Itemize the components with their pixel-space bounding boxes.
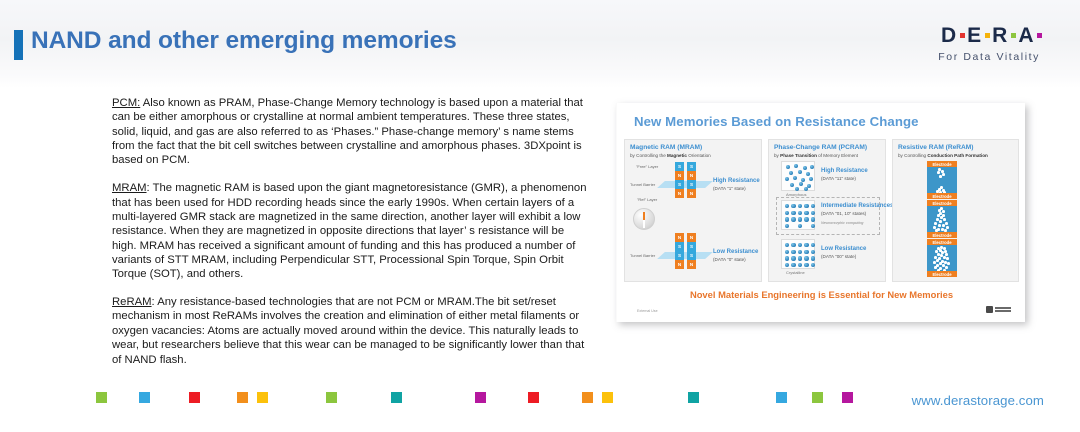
pcram-atom (791, 250, 795, 254)
mram-cell-n: N (687, 233, 696, 242)
mram-cell-n: N (687, 189, 696, 198)
pcram-atom (799, 182, 803, 186)
mram-cell-s: S (675, 242, 684, 251)
pcram-atom (811, 211, 815, 215)
pcram-atom (804, 211, 808, 215)
reram-electrode-bottom: Electrode (927, 232, 957, 238)
reram-filament-dot (942, 224, 945, 227)
pcram-atom (811, 263, 815, 267)
reram-filament-dot (936, 259, 939, 262)
pcram-atom (785, 243, 789, 247)
panel-subtitle-pcram: by Phase Transition of Memory Element (774, 152, 880, 159)
reram-filament-dot (937, 269, 940, 271)
pcram-sub-bold: Phase Transition (780, 153, 817, 158)
pcram-atom (798, 204, 802, 208)
footer-color-square (96, 392, 107, 403)
mram-sub-prefix: by Controlling the (630, 153, 667, 158)
pcram-atom (798, 250, 802, 254)
embedded-diagram-image[interactable]: New Memories Based on Resistance Change … (616, 103, 1025, 322)
reram-filament-dot (934, 266, 937, 269)
mram-cell-s: S (687, 180, 696, 189)
pcram-state-low-label: Low Resistance (821, 246, 866, 252)
reram-body (927, 206, 957, 232)
logo-wordmark: D E R A (938, 24, 1042, 46)
logo-dot-1 (960, 33, 965, 38)
diagram-panels: Magnetic RAM (MRAM) by Controlling the M… (624, 139, 1019, 282)
mram-cell-s: S (687, 251, 696, 260)
reram-filament-dot (945, 222, 948, 225)
reram-filament-dot (946, 257, 949, 260)
pcram-atom (791, 217, 795, 221)
mram-sub-bold: Magnetic (667, 153, 687, 158)
mram-state-low-sub: (DATA "0" state) (713, 257, 746, 262)
pcram-atom (798, 224, 802, 228)
pcram-atom (798, 243, 802, 247)
reram-body (927, 245, 957, 271)
mram-cell-s: S (687, 242, 696, 251)
reram-body (927, 167, 957, 193)
reram-cell-high: Electrode Electrode (927, 161, 957, 199)
footer-color-square (528, 392, 539, 403)
pcram-atom (798, 217, 802, 221)
pcram-atom (804, 256, 808, 260)
reram-cell-low: Electrode Electrode (927, 239, 957, 277)
footer-color-square (582, 392, 593, 403)
pcram-state-high-sub: (DATA "11" state) (821, 176, 856, 181)
diagram-footnote: External Use (637, 309, 658, 313)
pcram-atom (798, 263, 802, 267)
pcram-atom (811, 224, 815, 228)
corp-logo-bars (995, 307, 1011, 311)
pcram-atom (785, 204, 789, 208)
reram-filament-dot (935, 229, 938, 232)
mram-label-ref-layer: "Ref" Layer (637, 197, 657, 202)
reram-electrode-bottom: Electrode (927, 193, 957, 199)
pcram-atom (785, 211, 789, 215)
compass-icon (633, 208, 655, 230)
mram-cell-s: S (675, 162, 684, 171)
pcram-atom (785, 177, 789, 181)
pcram-sub-suffix: of Memory Element (817, 153, 858, 158)
pcram-atom (798, 211, 802, 215)
pcram-state-mid-sub: (DATA "01, 10" states) (821, 211, 866, 216)
brand-logo: D E R A For Data Vitality (938, 24, 1042, 63)
corp-logo-mark (986, 306, 993, 313)
reram-filament-dot (939, 175, 942, 178)
mram-cell-n: N (675, 189, 684, 198)
mram-state-high-sub: (DATA "1" state) (713, 186, 746, 191)
pcram-box-intermediate (781, 200, 815, 230)
term-mram: MRAM (112, 182, 147, 194)
footer-color-square (688, 392, 699, 403)
mram-label-tunnel-barrier: Tunnel Barrier (630, 182, 655, 187)
mram-pillar: N S S N (687, 233, 696, 269)
diagram-panel-reram: Resistive RAM (ReRAM) by Controlling Con… (892, 139, 1019, 282)
panel-title-mram: Magnetic RAM (MRAM) (630, 144, 756, 152)
reram-filament-dot (947, 262, 950, 265)
diagram-panel-mram: Magnetic RAM (MRAM) by Controlling the M… (624, 139, 762, 282)
reram-filament-dot (937, 171, 940, 174)
mram-cell-n: N (675, 171, 684, 180)
footer-color-square (475, 392, 486, 403)
reram-filament-dot (942, 210, 945, 213)
footer-color-square (139, 392, 150, 403)
term-pcm: PCM: (112, 97, 140, 109)
reram-filament-dot (942, 173, 945, 176)
header-accent-bar (14, 30, 23, 60)
mram-state-low-label: Low Resistance (713, 249, 758, 255)
pcram-atom (811, 204, 815, 208)
footer-color-square (391, 392, 402, 403)
pcram-atom (804, 250, 808, 254)
pcram-atom (804, 263, 808, 267)
panel-subtitle-mram: by Controlling the Magnetic Orientation (630, 152, 756, 159)
mram-cell-s: S (675, 251, 684, 260)
pcram-caption-crystalline: Crystalline (786, 270, 805, 275)
pcram-atom (791, 204, 795, 208)
pcram-state-high-label: High Resistance (821, 168, 868, 174)
mram-cell-n: N (687, 260, 696, 269)
logo-dot-4 (1037, 33, 1042, 38)
mram-cell-s: S (675, 180, 684, 189)
mram-sub-suffix: Orientation (687, 153, 711, 158)
diagram-title: New Memories Based on Resistance Change (634, 114, 919, 129)
paragraph-reram-text: : Any resistance-based technologies that… (112, 296, 584, 365)
reram-filament-dot (938, 224, 941, 227)
reram-filament-dot (943, 269, 946, 271)
mram-cell-n: N (687, 171, 696, 180)
pcram-atom (795, 187, 799, 191)
pcram-state-low-sub: (DATA "00" state) (821, 254, 856, 259)
mram-stack-low: N S S N N S S N (675, 233, 696, 269)
diagram-panel-pcram: Phase-Change RAM (PCRAM) by Phase Transi… (768, 139, 886, 282)
paragraph-reram: ReRAM: Any resistance-based technologies… (112, 295, 590, 367)
pcram-atom (786, 165, 790, 169)
paragraph-pcm-text: Also known as PRAM, Phase-Change Memory … (112, 97, 583, 166)
pcram-atom (804, 217, 808, 221)
panel-title-pcram: Phase-Change RAM (PCRAM) (774, 144, 880, 152)
mram-pillar: S N S N (675, 162, 684, 198)
mram-state-high-label: High Resistance (713, 178, 760, 184)
compass-needle (643, 212, 645, 228)
pcram-atom (785, 217, 789, 221)
footer-color-square (812, 392, 823, 403)
reram-filament-dot (939, 191, 942, 193)
reram-sub-prefix: by Controlling (898, 153, 927, 158)
panel-title-reram: Resistive RAM (ReRAM) (898, 144, 1013, 152)
mram-pillar: N S S N (675, 233, 684, 269)
mram-stack-high: S N S N S N S N (675, 162, 696, 198)
pcram-atom (806, 172, 810, 176)
paragraph-mram-text: : The magnetic RAM is based upon the gia… (112, 182, 587, 280)
pcram-atom (810, 165, 814, 169)
footer-color-square (189, 392, 200, 403)
reram-filament-dot (936, 190, 939, 193)
pcram-box-crystalline (781, 239, 815, 269)
mram-label-free-layer: "Free" Layer (636, 164, 658, 169)
reram-cell-intermediate: Electrode Electrode (927, 200, 957, 238)
footer-color-square (842, 392, 853, 403)
logo-dot-3 (1011, 33, 1016, 38)
pcram-atom (785, 224, 789, 228)
pcram-atom (811, 250, 815, 254)
reram-filament-dot (943, 191, 946, 193)
pcram-atom (798, 170, 802, 174)
mram-label-tunnel-barrier-2: Tunnel Barrier (630, 253, 655, 258)
diagram-corporate-logo-icon (986, 306, 1011, 313)
logo-letter-d: D (941, 25, 957, 46)
logo-dot-2 (985, 33, 990, 38)
pcram-atom (789, 171, 793, 175)
logo-tagline: For Data Vitality (938, 51, 1042, 63)
footer-color-square (237, 392, 248, 403)
pcram-atom (791, 211, 795, 215)
footer-color-square (257, 392, 268, 403)
pcram-atom (793, 176, 797, 180)
pcram-atom (791, 243, 795, 247)
pcram-atom (804, 187, 808, 191)
term-reram: ReRAM (112, 296, 152, 308)
pcram-atom (791, 263, 795, 267)
diagram-tagline: Novel Materials Engineering is Essential… (617, 289, 1025, 300)
pcram-atom (811, 256, 815, 260)
reram-filament-dot (943, 218, 946, 221)
pcram-atom (809, 177, 813, 181)
pcram-atom (785, 250, 789, 254)
mram-cell-n: N (675, 260, 684, 269)
pcram-atom (803, 166, 807, 170)
pcram-neuromorphic-note: Neuromorphic computing (821, 221, 863, 225)
reram-sub-bold: Conduction Path Formation (927, 153, 987, 158)
pcram-atom (798, 256, 802, 260)
page-title: NAND and other emerging memories (31, 27, 457, 55)
pcram-atom (794, 164, 798, 168)
reram-filament-dot (939, 220, 942, 223)
slide-header: NAND and other emerging memories D E R A… (0, 0, 1080, 88)
pcram-atom (790, 183, 794, 187)
footer-url[interactable]: www.derastorage.com (912, 393, 1044, 408)
pcram-box-amorphous (781, 161, 815, 191)
pcram-atom (785, 256, 789, 260)
pcram-atom (804, 243, 808, 247)
pcram-atom (791, 256, 795, 260)
paragraph-pcm: PCM: Also known as PRAM, Phase-Change Me… (112, 96, 590, 168)
logo-letter-e: E (967, 25, 982, 46)
reram-filament-dot (944, 229, 947, 232)
panel-subtitle-reram: by Controlling Conduction Path Formation (898, 152, 1013, 159)
pcram-atom (811, 243, 815, 247)
pcram-atom (811, 217, 815, 221)
mram-cell-s: S (687, 162, 696, 171)
logo-letter-a: A (1018, 25, 1034, 46)
pcram-state-mid-label: Intermediate Resistances (821, 203, 893, 209)
footer-color-square (602, 392, 613, 403)
reram-filament-dot (934, 222, 937, 225)
pcram-atom (785, 263, 789, 267)
logo-letter-r: R (992, 25, 1008, 46)
reram-electrode-bottom: Electrode (927, 271, 957, 277)
reram-filament-dot (933, 261, 936, 264)
footer-color-square (776, 392, 787, 403)
text-column: PCM: Also known as PRAM, Phase-Change Me… (112, 96, 590, 380)
footer-color-square (326, 392, 337, 403)
paragraph-mram: MRAM: The magnetic RAM is based upon the… (112, 181, 590, 281)
mram-cell-n: N (675, 233, 684, 242)
pcram-atom (804, 204, 808, 208)
mram-pillar: S N S N (687, 162, 696, 198)
